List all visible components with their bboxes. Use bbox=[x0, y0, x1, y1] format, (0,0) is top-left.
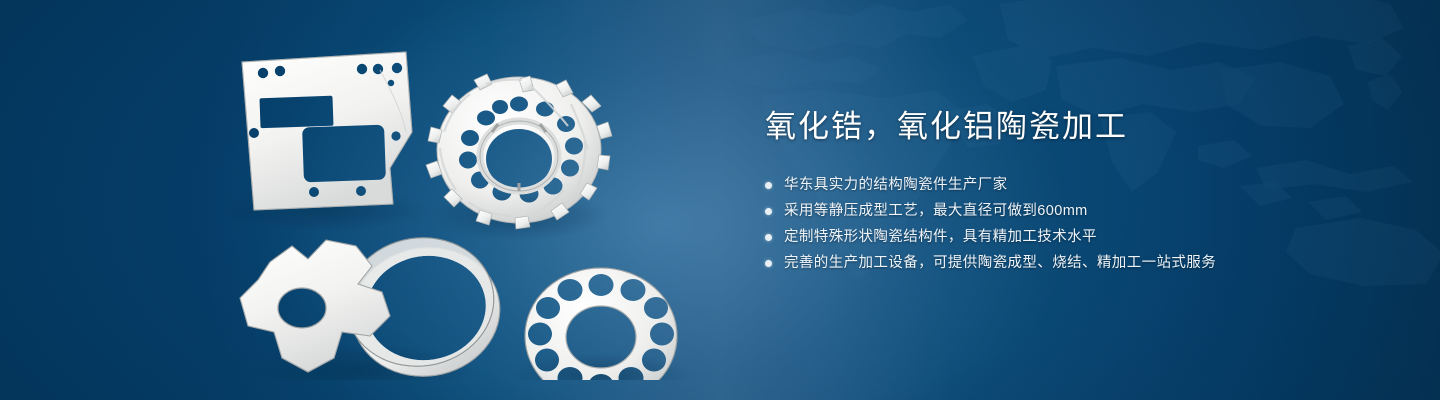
list-item: 采用等静压成型工艺，最大直径可做到600mm bbox=[765, 200, 1385, 222]
bullet-dot-icon bbox=[765, 208, 772, 215]
feature-text: 定制特殊形状陶瓷结构件，具有精加工技术水平 bbox=[784, 226, 1097, 248]
promo-banner: 氧化锆，氧化铝陶瓷加工 华东具实力的结构陶瓷件生产厂家 采用等静压成型工艺，最大… bbox=[0, 0, 1440, 400]
list-item: 华东具实力的结构陶瓷件生产厂家 bbox=[765, 174, 1385, 196]
ceramic-flat-plate-shape bbox=[242, 52, 412, 210]
product-photo-collage bbox=[230, 40, 700, 380]
banner-copy: 氧化锆，氧化铝陶瓷加工 华东具实力的结构陶瓷件生产厂家 采用等静压成型工艺，最大… bbox=[765, 106, 1385, 278]
bullet-dot-icon bbox=[765, 260, 772, 267]
bullet-dot-icon bbox=[765, 182, 772, 189]
list-item: 定制特殊形状陶瓷结构件，具有精加工技术水平 bbox=[765, 226, 1385, 248]
page-title: 氧化锆，氧化铝陶瓷加工 bbox=[765, 106, 1385, 148]
feature-text: 采用等静压成型工艺，最大直径可做到600mm bbox=[784, 200, 1088, 222]
ceramic-hole-ring-shape bbox=[525, 268, 677, 380]
feature-text: 完善的生产加工设备，可提供陶瓷成型、烧结、精加工一站式服务 bbox=[784, 252, 1216, 274]
list-item: 完善的生产加工设备，可提供陶瓷成型、烧结、精加工一站式服务 bbox=[765, 252, 1385, 274]
feature-list: 华东具实力的结构陶瓷件生产厂家 采用等静压成型工艺，最大直径可做到600mm 定… bbox=[765, 174, 1385, 274]
bullet-dot-icon bbox=[765, 234, 772, 241]
feature-text: 华东具实力的结构陶瓷件生产厂家 bbox=[784, 174, 1008, 196]
